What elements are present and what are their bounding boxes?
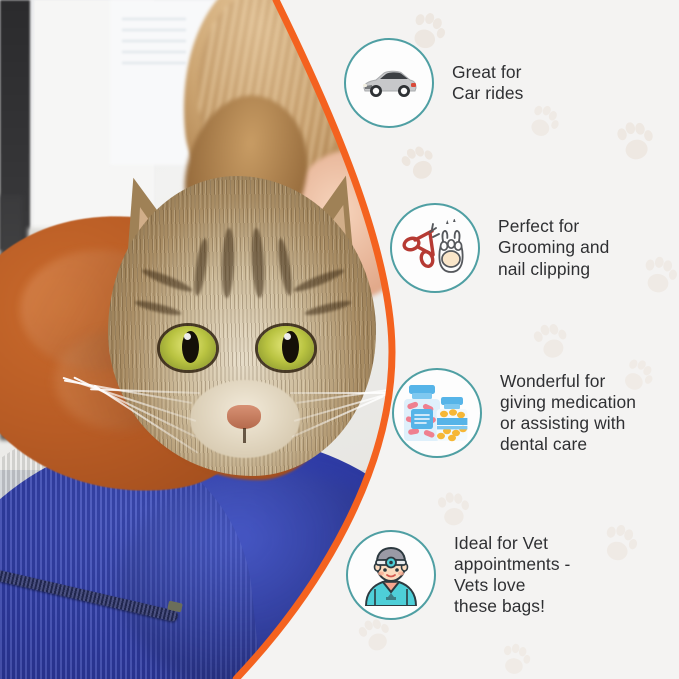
car-icon xyxy=(344,38,434,128)
feature-label: Ideal for Vet appointments - Vets love t… xyxy=(454,533,570,618)
nail-clipper-paw-icon xyxy=(390,203,480,293)
veterinarian-icon xyxy=(346,530,436,620)
product-feature-graphic: Great for Car rides xyxy=(0,0,679,679)
feature-label: Wonderful for giving medication or assis… xyxy=(500,371,636,456)
feature-label: Great for Car rides xyxy=(452,62,523,104)
pill-bottles-icon xyxy=(392,368,482,458)
feature-item-medication: Wonderful for giving medication or assis… xyxy=(392,368,636,458)
feature-item-vet: Ideal for Vet appointments - Vets love t… xyxy=(346,530,570,620)
feature-item-car-rides: Great for Car rides xyxy=(344,38,523,128)
feature-item-grooming: Perfect for Grooming and nail clipping xyxy=(390,203,609,293)
feature-label: Perfect for Grooming and nail clipping xyxy=(498,216,609,280)
feature-list: Great for Car rides xyxy=(330,0,679,679)
